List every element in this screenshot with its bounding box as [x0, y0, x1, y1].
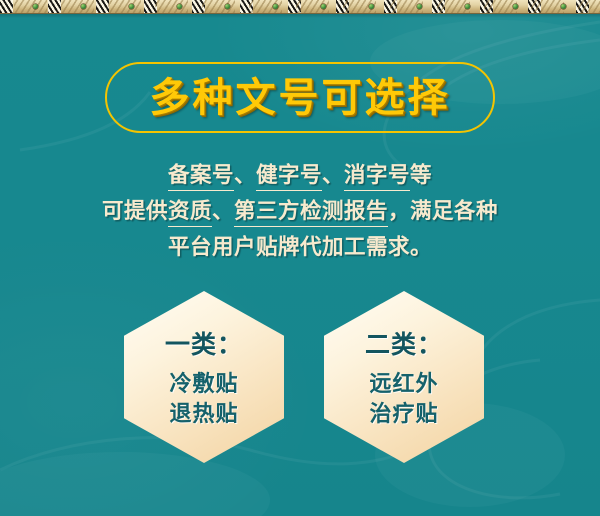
body-plain-text: ，满足各种	[388, 199, 498, 224]
body-plain-text: 、	[234, 163, 256, 188]
page-title: 多种文号可选择	[0, 70, 600, 126]
body-plain-text: 可提供	[102, 199, 168, 224]
hexagon-item: 远红外	[324, 370, 484, 398]
gem-dot-icon	[465, 4, 470, 9]
body-plain-text: 、	[212, 199, 234, 224]
body-underlined-term: 资质	[168, 199, 212, 227]
gem-dot-icon	[321, 4, 326, 9]
gem-dot-icon	[513, 4, 518, 9]
body-line-1: 备案号、健字号、消字号等	[0, 158, 600, 194]
body-paragraph: 备案号、健字号、消字号等 可提供资质、第三方检测报告，满足各种 平台用户贴牌代加…	[0, 158, 600, 266]
gem-dot-icon	[417, 4, 422, 9]
gem-dot-icon	[129, 4, 134, 9]
body-plain-text: 、	[322, 163, 344, 188]
body-underlined-term: 健字号	[256, 163, 322, 191]
gem-row	[0, 0, 600, 13]
gem-dot-icon	[33, 4, 38, 9]
ornamental-top-border	[0, 0, 600, 14]
body-line-2: 可提供资质、第三方检测报告，满足各种	[0, 194, 600, 230]
hexagon-item: 退热贴	[124, 400, 284, 428]
promo-poster: 多种文号可选择 备案号、健字号、消字号等 可提供资质、第三方检测报告，满足各种 …	[0, 0, 600, 516]
gem-dot-icon	[561, 4, 566, 9]
hexagon-item: 治疗贴	[324, 400, 484, 428]
body-plain-text: 等	[410, 163, 432, 188]
body-underlined-term: 第三方检测报告	[234, 199, 388, 227]
hexagon-heading: 二类：	[324, 325, 484, 361]
body-plain-text: 平台用户贴牌代加工需求。	[168, 235, 432, 260]
hexagon-heading: 一类：	[124, 325, 284, 361]
hexagon-item: 冷敷贴	[124, 370, 284, 398]
gem-dot-icon	[81, 4, 86, 9]
gem-dot-icon	[369, 4, 374, 9]
gem-dot-icon	[273, 4, 278, 9]
body-line-3: 平台用户贴牌代加工需求。	[0, 230, 600, 266]
band-drop-shadow	[0, 13, 600, 18]
gem-dot-icon	[225, 4, 230, 9]
gem-dot-icon	[177, 4, 182, 9]
body-underlined-term: 消字号	[344, 163, 410, 191]
body-underlined-term: 备案号	[168, 163, 234, 191]
